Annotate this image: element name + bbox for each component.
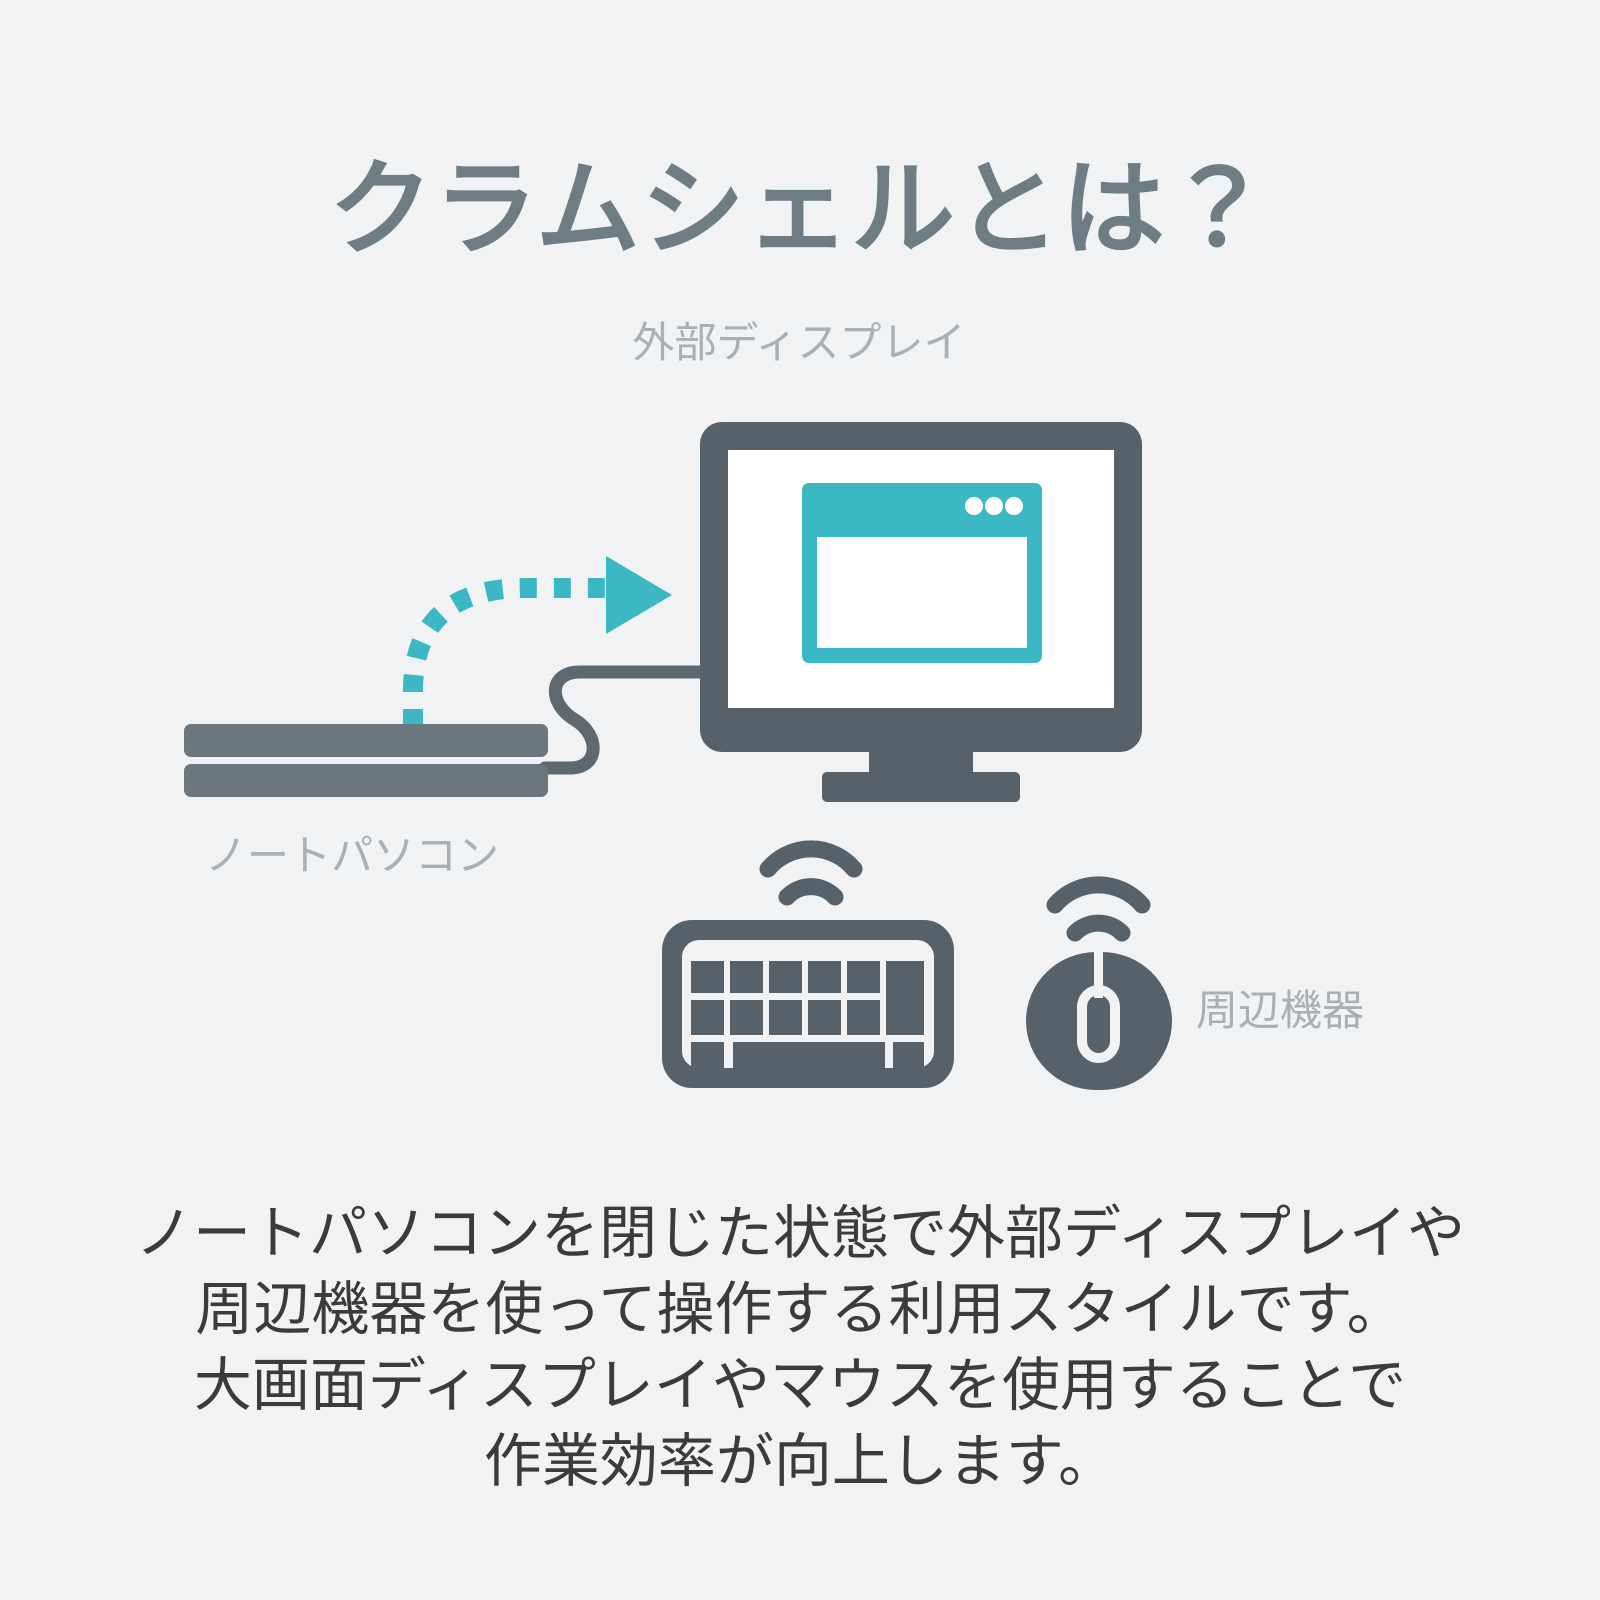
- laptop-to-display-cable: [545, 672, 700, 768]
- description-paragraph: ノートパソコンを閉じた状態で外部ディスプレイや 周辺機器を使って操作する利用スタ…: [0, 1196, 1600, 1500]
- wireless-mouse-icon: [1026, 952, 1172, 1090]
- description-line: 作業効率が向上します。: [0, 1424, 1600, 1500]
- window-dot: [965, 497, 983, 515]
- closed-laptop-icon: [184, 724, 548, 797]
- mouse-wireless-icon: [1055, 885, 1142, 933]
- page-title: クラムシェルとは？: [0, 148, 1600, 273]
- monitor-icon: [700, 422, 1142, 802]
- app-window-icon: [802, 483, 1042, 663]
- keyboard-wireless-icon: [768, 849, 854, 897]
- infographic-page: クラムシェルとは？: [0, 0, 1600, 1600]
- window-dot: [1005, 497, 1023, 515]
- label-peripherals: 周辺機器: [1196, 990, 1364, 1032]
- window-dot: [985, 497, 1003, 515]
- description-line: ノートパソコンを閉じた状態で外部ディスプレイや: [0, 1196, 1600, 1272]
- description-line: 周辺機器を使って操作する利用スタイルです。: [0, 1272, 1600, 1348]
- connection-arrow-icon: [413, 556, 672, 726]
- wireless-keyboard-icon: [662, 920, 954, 1088]
- description-line: 大画面ディスプレイやマウスを使用することで: [0, 1348, 1600, 1424]
- label-external-display: 外部ディスプレイ: [0, 322, 1599, 364]
- label-laptop: ノートパソコン: [205, 835, 499, 877]
